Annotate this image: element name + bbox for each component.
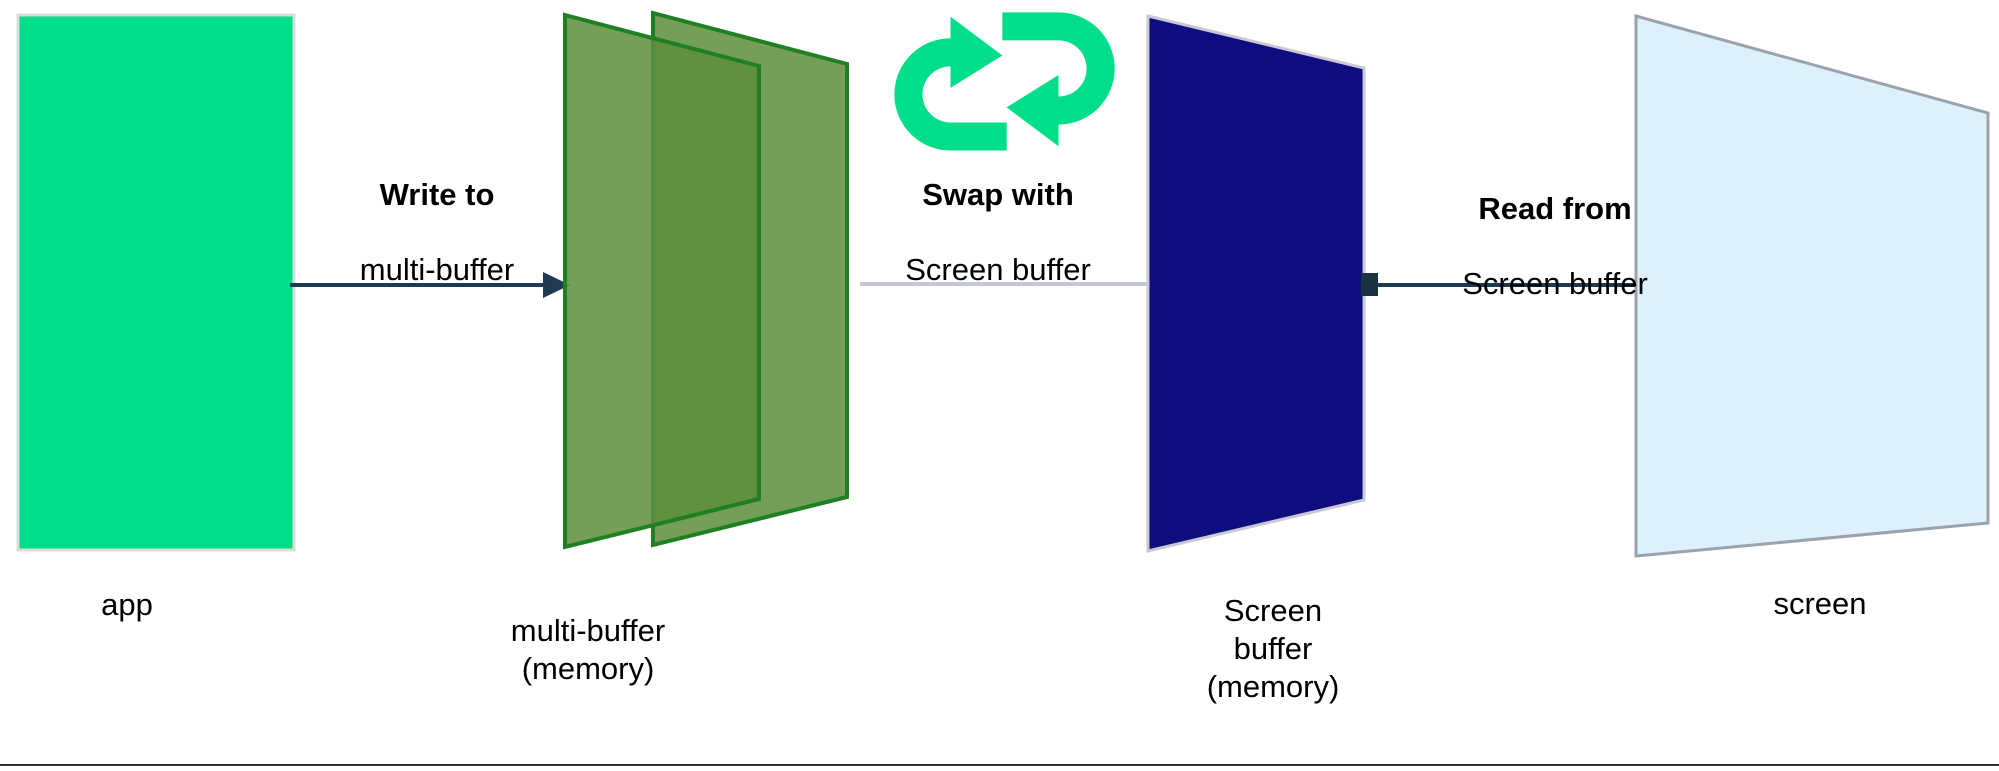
bottom-divider	[0, 764, 1999, 766]
node-label-app: app	[22, 586, 232, 624]
node-multi-buffer-shape[interactable]	[565, 13, 847, 547]
read-source-marker-icon	[1361, 273, 1378, 296]
node-label-multi-buffer: multi-buffer (memory)	[428, 612, 748, 688]
edge-label-write: Write to multi-buffer	[272, 138, 602, 327]
edge-label-read-subtitle: Screen buffer	[1390, 265, 1720, 303]
node-screen-buffer-shape[interactable]	[1148, 16, 1364, 551]
node-label-screen-buffer: Screen buffer (memory)	[1123, 592, 1423, 705]
edge-label-read-title: Read from	[1390, 190, 1720, 228]
edge-label-write-title: Write to	[272, 176, 602, 214]
app-rectangle[interactable]	[18, 15, 294, 550]
swap-loop-right-arrowhead	[1007, 75, 1059, 146]
edge-label-swap: Swap with Screen buffer	[833, 138, 1163, 327]
swap-loop-left-arrowhead	[951, 17, 1003, 88]
edge-label-read: Read from Screen buffer	[1390, 152, 1720, 341]
node-label-screen: screen	[1680, 585, 1960, 623]
swap-loop-icon	[894, 12, 1114, 150]
node-app-shape[interactable]	[18, 15, 294, 550]
diagram-canvas: Write to multi-buffer Swap with Screen b…	[0, 0, 1999, 771]
edge-label-swap-title: Swap with	[833, 176, 1163, 214]
screen-buffer-parallelogram[interactable]	[1148, 16, 1364, 551]
edge-label-swap-subtitle: Screen buffer	[833, 251, 1163, 289]
diagram-shapes	[0, 0, 1999, 771]
edge-label-write-subtitle: multi-buffer	[272, 251, 602, 289]
